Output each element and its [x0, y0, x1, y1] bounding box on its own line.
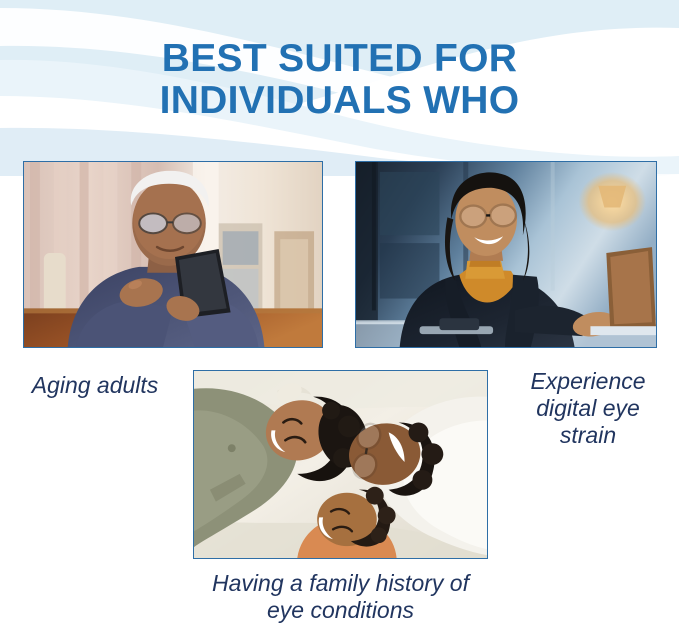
caption-family-history-line-1: Having a family history of	[143, 570, 538, 597]
page-title-line-2: INDIVIDUALS WHO	[0, 80, 679, 122]
photo-aging-adults-artwork	[24, 162, 322, 347]
caption-aging-adults-line-1: Aging adults	[0, 372, 190, 399]
photo-digital-eye-strain	[355, 161, 657, 348]
photo-family-history	[193, 370, 488, 559]
caption-family-history-line-2: eye conditions	[143, 597, 538, 624]
page-title: BEST SUITED FOR INDIVIDUALS WHO	[0, 38, 679, 122]
photo-aging-adults	[23, 161, 323, 348]
caption-digital-eye-strain-line-1: Experience	[497, 368, 679, 395]
caption-digital-eye-strain-line-3: strain	[497, 422, 679, 449]
page-title-line-1: BEST SUITED FOR	[0, 38, 679, 80]
caption-family-history: Having a family history of eye condition…	[143, 570, 538, 624]
caption-aging-adults: Aging adults	[0, 372, 190, 399]
caption-digital-eye-strain: Experience digital eye strain	[497, 368, 679, 449]
photo-digital-eye-strain-artwork	[356, 162, 656, 347]
infographic-root: BEST SUITED FOR INDIVIDUALS WHO	[0, 0, 679, 628]
photo-family-history-artwork	[194, 371, 487, 558]
caption-digital-eye-strain-line-2: digital eye	[497, 395, 679, 422]
